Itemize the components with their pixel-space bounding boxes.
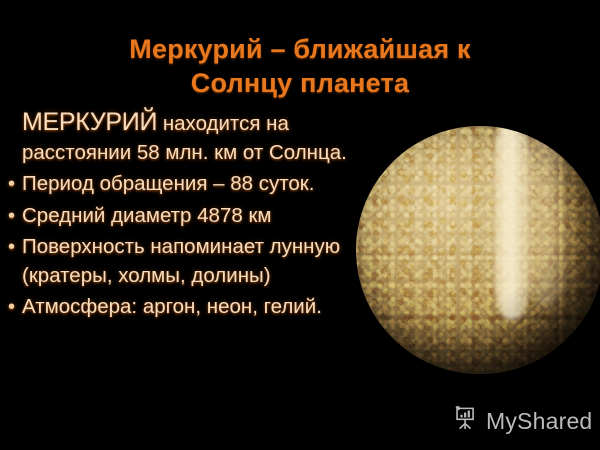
list-item: • Атмосфера: аргон, неон, гелий. bbox=[8, 293, 380, 322]
presentation-slide: Меркурий – ближайшая к Солнцу планета МЕ… bbox=[0, 0, 600, 450]
bullet-dot-icon: • bbox=[8, 202, 22, 231]
planet-sphere bbox=[356, 126, 600, 374]
bullet-dot-icon: • bbox=[8, 170, 22, 199]
myshared-watermark: MyShared bbox=[452, 403, 592, 439]
intro-paragraph: МЕРКУРИЙ находится на расстоянии 58 млн.… bbox=[8, 108, 380, 167]
bullet-dot-icon: • bbox=[8, 233, 22, 262]
list-item: • Период обращения – 88 суток. bbox=[8, 170, 380, 199]
list-item-label: Поверхность напоминает лунную (кратеры, … bbox=[22, 233, 380, 290]
bullet-dot-icon: • bbox=[8, 293, 22, 322]
flipchart-chart-icon bbox=[452, 405, 479, 437]
list-item-label: Средний диаметр 4878 км bbox=[22, 202, 380, 231]
mercury-planet-image bbox=[356, 126, 600, 374]
list-item: • Поверхность напоминает лунную (кратеры… bbox=[8, 233, 380, 290]
list-item: • Средний диаметр 4878 км bbox=[8, 202, 380, 231]
list-item-label: Период обращения – 88 суток. bbox=[22, 170, 380, 199]
slide-title: Меркурий – ближайшая к Солнцу планета bbox=[0, 32, 600, 100]
intro-lead-word: МЕРКУРИЙ bbox=[22, 108, 157, 136]
slide-body: МЕРКУРИЙ находится на расстоянии 58 млн.… bbox=[8, 108, 380, 322]
list-item-label: Атмосфера: аргон, неон, гелий. bbox=[22, 293, 380, 322]
myshared-label: MyShared bbox=[486, 408, 592, 435]
planet-limb-shading bbox=[356, 126, 600, 374]
